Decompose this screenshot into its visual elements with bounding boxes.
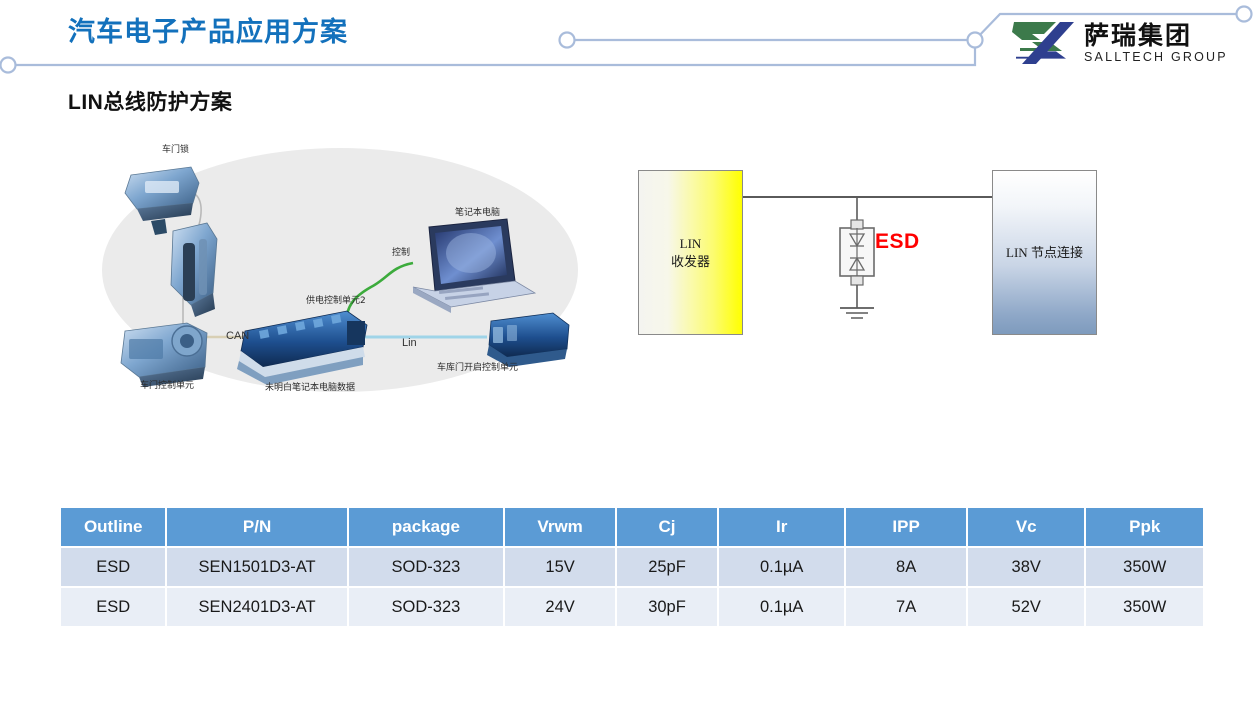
cell-cj: 25pF xyxy=(616,547,718,587)
cell-ir: 0.1µA xyxy=(718,587,845,627)
table-row: ESD SEN2401D3-AT SOD-323 24V 30pF 0.1µA … xyxy=(61,587,1203,627)
illus-label-can: CAN xyxy=(226,330,249,342)
cell-vrwm: 24V xyxy=(504,587,616,627)
lin-esd-circuit-diagram: LIN 收发器 LIN 节点连接 ESD xyxy=(620,150,1130,365)
product-spec-table: Outline P/N package Vrwm Cj Ir IPP Vc Pp… xyxy=(61,508,1203,628)
cell-pn: SEN2401D3-AT xyxy=(166,587,347,627)
cell-package: SOD-323 xyxy=(348,547,505,587)
esd-lead-bottom xyxy=(851,276,863,285)
lin-node-label: LIN 节点连接 xyxy=(1006,244,1083,262)
cell-outline: ESD xyxy=(61,587,166,627)
illus-label-garage-door-unit: 车库门开启控制单元 xyxy=(437,360,518,373)
esd-label: ESD xyxy=(875,230,920,254)
cell-cj: 30pF xyxy=(616,587,718,627)
lin-transceiver-label-line1: LIN xyxy=(671,235,710,253)
logo-name-cn: 萨瑞集团 xyxy=(1084,23,1228,48)
logo-name-en: SALLTECH GROUP xyxy=(1084,51,1228,64)
lin-node-block: LIN 节点连接 xyxy=(992,170,1097,335)
column-header-ipp: IPP xyxy=(845,508,967,547)
lin-topology-illustration: 车门锁 车门控制单元 CAN 供电控制单元2 未明白笔记本电脑数据 控制 Lin… xyxy=(95,135,595,405)
cell-ipp: 8A xyxy=(845,547,967,587)
salltech-logo-icon xyxy=(1010,20,1076,66)
garage-door-unit-part xyxy=(487,313,569,367)
table-row: ESD SEN1501D3-AT SOD-323 15V 25pF 0.1µA … xyxy=(61,547,1203,587)
column-header-vc: Vc xyxy=(967,508,1085,547)
cell-pn: SEN1501D3-AT xyxy=(166,547,347,587)
illus-label-door-lock: 车门锁 xyxy=(162,142,189,155)
section-title: LIN总线防护方案 xyxy=(68,86,232,116)
column-header-vrwm: Vrwm xyxy=(504,508,616,547)
column-header-cj: Cj xyxy=(616,508,718,547)
cell-ipp: 7A xyxy=(845,587,967,627)
table-header-row: Outline P/N package Vrwm Cj Ir IPP Vc Pp… xyxy=(61,508,1203,547)
page-title: 汽车电子产品应用方案 xyxy=(68,10,348,49)
illus-label-door-control-unit: 车门控制单元 xyxy=(140,378,194,391)
lin-transceiver-label-line2: 收发器 xyxy=(671,253,710,271)
deco-node-mid-left xyxy=(560,33,575,48)
column-header-pn: P/N xyxy=(166,508,347,547)
cell-ppk: 350W xyxy=(1085,547,1203,587)
cell-vrwm: 15V xyxy=(504,547,616,587)
illus-label-laptop: 笔记本电脑 xyxy=(455,205,500,218)
cell-package: SOD-323 xyxy=(348,587,505,627)
deco-node-center xyxy=(968,33,983,48)
column-header-package: package xyxy=(348,508,505,547)
cell-outline: ESD xyxy=(61,547,166,587)
illus-label-power-control-unit-2: 供电控制单元2 xyxy=(306,293,366,306)
deco-node-left xyxy=(1,58,16,73)
column-header-outline: Outline xyxy=(61,508,166,547)
column-header-ir: Ir xyxy=(718,508,845,547)
topology-graphic xyxy=(95,135,595,405)
company-logo: 萨瑞集团 SALLTECH GROUP xyxy=(1010,20,1228,66)
cell-ir: 0.1µA xyxy=(718,547,845,587)
illus-label-lin: Lin xyxy=(402,337,417,349)
lin-transceiver-block: LIN 收发器 xyxy=(638,170,743,335)
cell-vc: 38V xyxy=(967,547,1085,587)
illus-label-laptop-data: 未明白笔记本电脑数据 xyxy=(265,380,355,393)
illus-label-control: 控制 xyxy=(392,245,410,258)
cell-vc: 52V xyxy=(967,587,1085,627)
cell-ppk: 350W xyxy=(1085,587,1203,627)
esd-lead-top xyxy=(851,220,863,229)
deco-node-right xyxy=(1237,7,1252,22)
column-header-ppk: Ppk xyxy=(1085,508,1203,547)
